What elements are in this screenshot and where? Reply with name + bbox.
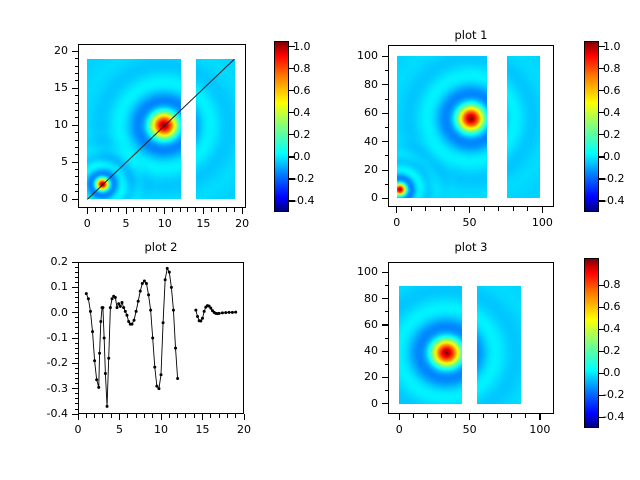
colorbar-tick-label: 0.0 [603, 366, 639, 379]
colorbar-tick-label: 0.4 [603, 322, 639, 335]
heatmap-canvas [477, 286, 521, 404]
panel-plot-3: plot 3050100020406080100-0.4-0.20.00.20.… [0, 0, 640, 480]
colorbar-tick-label: 0.8 [603, 278, 639, 291]
x-tick-minor [539, 414, 540, 418]
colorbar-tick-label: 0.2 [603, 344, 639, 357]
colorbar [584, 258, 599, 428]
panel-title: plot 3 [388, 240, 554, 254]
y-tick-label: 100 [330, 265, 378, 278]
colorbar-tick-label: 0.6 [603, 300, 639, 313]
y-tick-minor [385, 390, 389, 391]
y-tick-label: 20 [330, 370, 378, 383]
y-tick-minor [385, 403, 389, 404]
figure-canvas: 0510152005101520-0.4-0.20.00.20.40.60.81… [0, 0, 640, 480]
colorbar-tick-label: -0.4 [603, 410, 639, 423]
y-tick-label: 60 [330, 318, 378, 331]
x-tick-minor [413, 414, 414, 418]
x-tick-minor [441, 414, 442, 418]
y-tick-minor [385, 377, 389, 378]
x-tick-minor [427, 414, 428, 418]
y-tick-label: 40 [330, 344, 378, 357]
y-tick-minor [385, 285, 389, 286]
y-tick-minor [385, 298, 389, 299]
y-tick-label: 0 [330, 397, 378, 410]
image-patch [399, 286, 462, 404]
y-tick-minor [385, 364, 389, 365]
x-tick-label: 0 [379, 423, 419, 436]
x-tick-minor [511, 414, 512, 418]
image-patch [477, 286, 521, 404]
x-tick-minor [483, 414, 484, 418]
x-tick-minor [525, 414, 526, 418]
x-tick-minor [455, 414, 456, 418]
colorbar-tick-label: -0.2 [603, 388, 639, 401]
heatmap-canvas [399, 286, 462, 404]
y-tick-minor [385, 338, 389, 339]
x-tick-minor [497, 414, 498, 418]
x-tick-minor [469, 414, 470, 418]
y-tick-label: 80 [330, 292, 378, 305]
y-tick-minor [385, 272, 389, 273]
y-tick-minor [385, 311, 389, 312]
y-tick-minor [385, 324, 389, 325]
x-tick-label: 100 [520, 423, 560, 436]
x-tick-minor [399, 414, 400, 418]
y-tick-minor [385, 351, 389, 352]
x-tick-label: 50 [450, 423, 490, 436]
